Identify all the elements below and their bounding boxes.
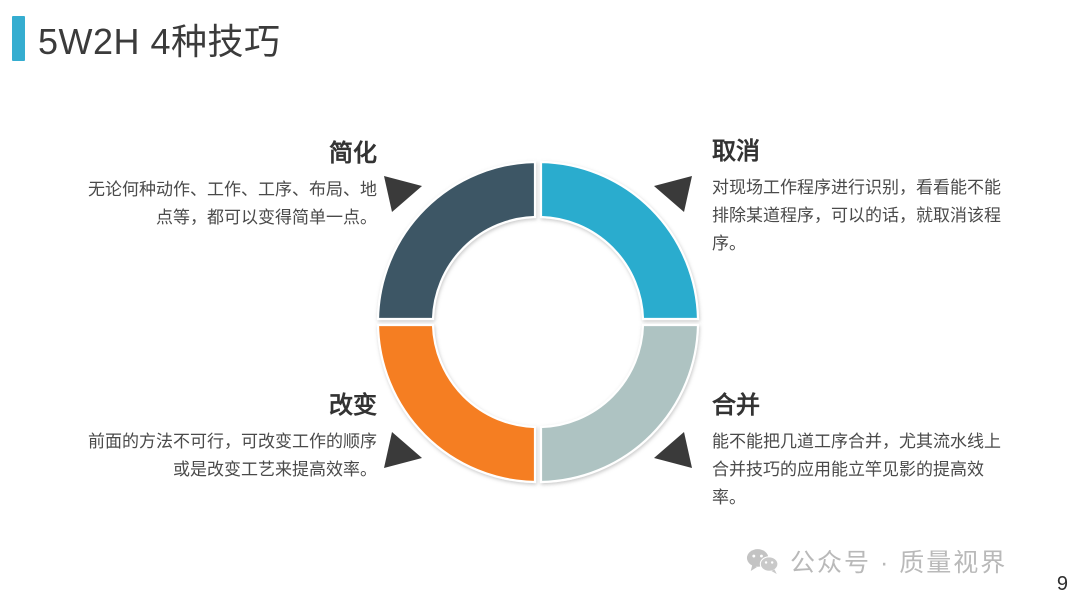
page-number: 9 bbox=[1057, 573, 1068, 596]
quadrant-body-quxiao: 对现场工作程序进行识别，看看能不能排除某道程序，可以的话，就取消该程序。 bbox=[712, 174, 1007, 258]
quadrant-title-gaibian: 改变 bbox=[82, 392, 377, 421]
footer-text: 公众号 · 质量视界 bbox=[790, 543, 1007, 579]
quadrant-title-jianhua: 简化 bbox=[82, 140, 377, 169]
arrow-top-left-icon bbox=[384, 176, 422, 212]
wechat-icon bbox=[746, 548, 780, 574]
quadrant-block-bottom-left: 改变 前面的方法不可行，可改变工作的顺序或是改变工艺来提高效率。 bbox=[82, 392, 377, 484]
slide-header: 5W2H 4种技巧 bbox=[0, 0, 1080, 78]
quadrant-block-top-right: 取消 对现场工作程序进行识别，看看能不能排除某道程序，可以的话，就取消该程序。 bbox=[712, 138, 1007, 258]
quadrant-body-jianhua: 无论何种动作、工作、工序、布局、地点等，都可以变得简单一点。 bbox=[82, 176, 377, 232]
arrow-top-right-icon bbox=[654, 176, 692, 212]
quadrant-block-bottom-right: 合并 能不能把几道工序合并，尤其流水线上合并技巧的应用能立竿见影的提高效率。 bbox=[712, 392, 1007, 512]
quadrant-title-quxiao: 取消 bbox=[712, 138, 1007, 167]
footer-watermark: 公众号 · 质量视界 bbox=[746, 543, 1007, 579]
quadrant-block-top-left: 简化 无论何种动作、工作、工序、布局、地点等，都可以变得简单一点。 bbox=[82, 140, 377, 232]
header-accent-bar bbox=[12, 16, 25, 61]
quadrant-body-gaibian: 前面的方法不可行，可改变工作的顺序或是改变工艺来提高效率。 bbox=[82, 428, 377, 484]
quadrant-body-hebing: 能不能把几道工序合并，尤其流水线上合并技巧的应用能立竿见影的提高效率。 bbox=[712, 428, 1007, 512]
quadrant-title-hebing: 合并 bbox=[712, 392, 1007, 421]
donut-diagram bbox=[358, 142, 718, 502]
arrow-bottom-left-icon bbox=[384, 432, 422, 468]
page-title: 5W2H 4种技巧 bbox=[38, 13, 281, 65]
arrow-bottom-right-icon bbox=[654, 432, 692, 468]
